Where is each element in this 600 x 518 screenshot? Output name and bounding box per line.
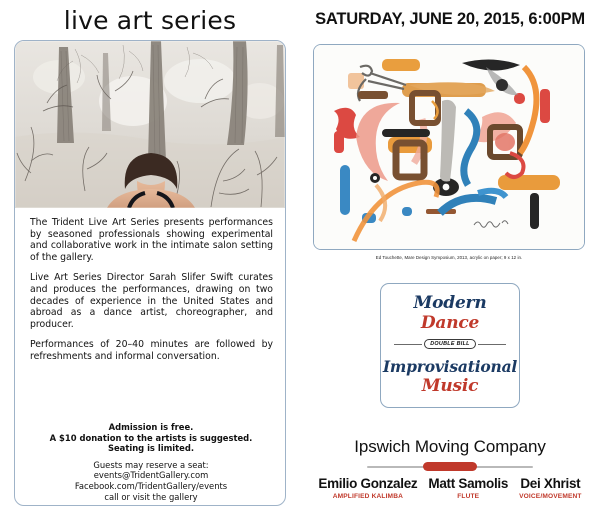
- company-name: Ipswich Moving Company: [300, 437, 600, 457]
- performer-separator: [367, 462, 533, 471]
- double-bill-badge: DOUBLE BILL: [424, 339, 476, 349]
- info-card: The Trident Live Art Series presents per…: [14, 40, 286, 506]
- event-date-heading: SATURDAY, JUNE 20, 2015, 6:00PM: [300, 10, 600, 29]
- paragraph-1: The Trident Live Art Series presents per…: [30, 217, 273, 263]
- performer-role: VOICE/MOVEMENT: [519, 492, 582, 501]
- poster-root: live art series SATURDAY, JUNE 20, 2015,…: [0, 0, 600, 518]
- admission-line-1: Admission is free.: [25, 422, 277, 433]
- program-line-dance: Dance: [381, 313, 519, 333]
- performer-item: Emilio Gonzalez AMPLIFIED KALIMBA: [318, 476, 417, 501]
- admission-line-3: Seating is limited.: [25, 443, 277, 454]
- double-bill-divider: DOUBLE BILL: [381, 338, 519, 350]
- paragraph-3: Performances of 20–40 minutes are follow…: [30, 339, 273, 362]
- artwork-caption: Ed Touchette, Mare Design Symposium, 201…: [313, 255, 585, 261]
- reserve-email[interactable]: events@TridentGallery.com: [25, 470, 277, 481]
- program-line-improvisational: Improvisational: [381, 357, 519, 376]
- admission-line-2: A $10 donation to the artists is suggest…: [25, 433, 277, 444]
- reserve-line-1: Guests may reserve a seat:: [25, 460, 277, 471]
- performer-name: Emilio Gonzalez: [318, 476, 417, 492]
- performer-item: Matt Samolis FLUTE: [428, 476, 508, 501]
- program-badge-box: Modern Dance DOUBLE BILL Improvisational…: [380, 283, 520, 408]
- description-text: The Trident Live Art Series presents per…: [30, 217, 273, 363]
- performer-role: AMPLIFIED KALIMBA: [318, 492, 417, 501]
- paragraph-2: Live Art Series Director Sarah Slifer Sw…: [30, 272, 273, 330]
- performer-list: Emilio Gonzalez AMPLIFIED KALIMBA Matt S…: [300, 476, 600, 501]
- performer-role: FLUTE: [428, 492, 508, 501]
- dancer-forest-photo: [15, 41, 285, 208]
- divider-rule-right: [478, 344, 506, 345]
- trident-gallery-logo: TRIDENTGALLERY 189 MAIN STREET GLOUCESTE…: [15, 502, 285, 506]
- program-line-modern: Modern: [381, 293, 519, 313]
- program-line-music: Music: [381, 376, 519, 396]
- divider-rule-left: [394, 344, 422, 345]
- logo-word-gallery: GALLERY: [147, 502, 220, 506]
- reserve-facebook-link[interactable]: Facebook.com/TridentGallery/events: [25, 481, 277, 492]
- artwork-image: [313, 44, 585, 250]
- logo-word-trident: TRIDENT: [81, 502, 147, 506]
- performer-name: Dei Xhrist: [519, 476, 582, 492]
- separator-accent: [423, 462, 477, 471]
- logo-wordmark: TRIDENTGALLERY: [15, 502, 285, 506]
- admission-and-reservation-block: Admission is free. A $10 donation to the…: [25, 422, 277, 502]
- page-title: live art series: [0, 6, 300, 35]
- performer-name: Matt Samolis: [428, 476, 508, 492]
- performer-item: Dei Xhrist VOICE/MOVEMENT: [519, 476, 582, 501]
- reserve-line-4: call or visit the gallery: [25, 492, 277, 503]
